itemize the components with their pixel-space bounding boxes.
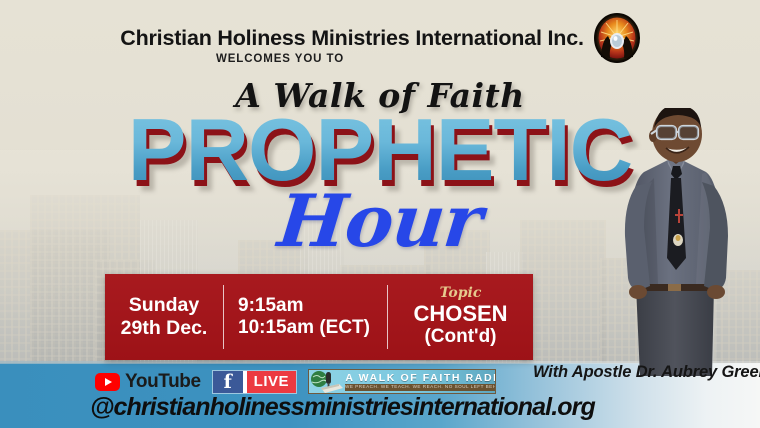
speaker-caption: With Apostle Dr. Aubrey Greenidge bbox=[533, 363, 760, 382]
ministry-name: Christian Holiness Ministries Internatio… bbox=[120, 26, 584, 51]
radio-name: A WALK OF FAITH RADIO bbox=[345, 372, 496, 384]
walk-of-faith-radio-badge[interactable]: A WALK OF FAITH RADIO WE PREACH. WE TEAC… bbox=[308, 369, 496, 394]
topic-title: CHOSEN bbox=[413, 302, 507, 326]
youtube-label: YouTube bbox=[125, 371, 201, 393]
topic-subtitle: (Cont'd) bbox=[424, 326, 496, 348]
social-row: YouTube f LIVE A WALK OF FAITH RADIO WE bbox=[95, 369, 496, 394]
banner-time-cell: 9:15am 10:15am (ECT) bbox=[224, 274, 387, 360]
facebook-f-icon: f bbox=[213, 371, 243, 393]
welcome-line: WELCOMES YOU TO bbox=[0, 53, 560, 65]
banner-day-cell: Sunday 29th Dec. bbox=[105, 274, 223, 360]
youtube-badge[interactable]: YouTube bbox=[95, 371, 201, 393]
speaker-portrait-photo bbox=[610, 108, 742, 376]
live-label: LIVE bbox=[247, 371, 296, 393]
service-info-banner: Sunday 29th Dec. 9:15am 10:15am (ECT) To… bbox=[105, 274, 533, 360]
radio-microphone-globe-icon bbox=[309, 370, 345, 393]
banner-topic-cell: Topic CHOSEN (Cont'd) bbox=[388, 274, 533, 360]
service-time-secondary: 10:15am (ECT) bbox=[238, 317, 370, 339]
service-day: Sunday bbox=[129, 294, 199, 317]
service-time-primary: 9:15am bbox=[238, 295, 304, 317]
radio-text-group: A WALK OF FAITH RADIO WE PREACH. WE TEAC… bbox=[345, 372, 496, 391]
youtube-play-icon bbox=[95, 373, 120, 391]
flyer-canvas: Christian Holiness Ministries Internatio… bbox=[0, 0, 760, 428]
topic-label: Topic bbox=[440, 286, 482, 301]
radio-tagline: WE PREACH. WE TEACH. WE REACH. NO SOUL L… bbox=[345, 384, 496, 391]
facebook-live-badge[interactable]: f LIVE bbox=[212, 370, 297, 394]
service-date: 29th Dec. bbox=[121, 317, 208, 340]
ministry-emblem-icon bbox=[594, 13, 640, 63]
website-url[interactable]: @christianholinessministriesinternationa… bbox=[90, 393, 520, 422]
